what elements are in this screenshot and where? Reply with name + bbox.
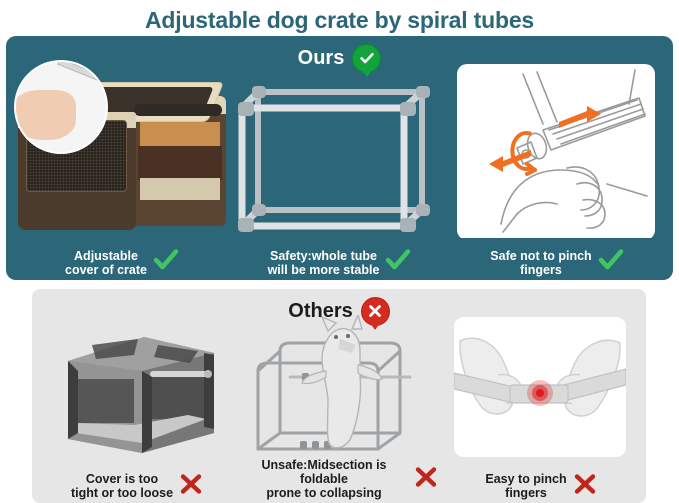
check-badge-icon — [352, 44, 381, 73]
pinch-hands-art — [442, 315, 640, 465]
others-caption-3: Easy to pinch fingers — [442, 472, 640, 500]
ours-header-label: Ours — [298, 47, 345, 70]
caption-line-2: prone to collapsing — [266, 486, 381, 500]
caption-line-2: fingers — [520, 263, 562, 277]
caption-line-1: Easy to pinch — [485, 472, 566, 486]
crate-photo-art — [14, 60, 230, 238]
wireframe-art — [232, 60, 448, 238]
white-card — [457, 64, 655, 238]
others-caption-1: Cover is too tight or too loose — [38, 472, 236, 500]
ours-cell-1: Adjustable cover of crate — [14, 56, 230, 280]
ours-caption-2-text: Safety:whole tube will be more stable — [268, 249, 380, 277]
check-icon — [598, 248, 624, 277]
caption-line-1: Safe not to pinch — [490, 249, 591, 263]
check-icon — [385, 248, 411, 277]
two-hands-pinching-tube-icon — [454, 317, 626, 457]
cross-icon — [414, 466, 438, 493]
caption-line-2: will be more stable — [268, 263, 380, 277]
gray-crate-art — [38, 315, 236, 465]
foldable-frame-with-dog-icon — [240, 315, 438, 465]
ours-cells: Adjustable cover of crate — [6, 56, 673, 280]
others-header-label: Others — [288, 300, 352, 323]
others-section-header: Others — [32, 295, 646, 327]
tube-frame-icon — [232, 60, 448, 238]
cross-badge-icon — [361, 297, 390, 326]
others-panel: Others — [32, 289, 646, 503]
ours-caption-2: Safety:whole tube will be more stable — [232, 248, 448, 277]
caption-line-2: cover of crate — [65, 263, 147, 277]
crate-side-floor — [140, 178, 220, 200]
grayscale-soft-crate-icon — [38, 315, 236, 465]
crate-side-brown-panel — [138, 146, 222, 180]
caption-line-1: Adjustable — [74, 249, 138, 263]
white-card — [454, 317, 626, 457]
caption-line-1: Unsafe:Midsection is foldable — [261, 458, 386, 486]
others-cell-2: Unsafe:Midsection is foldable prone to c… — [240, 307, 438, 503]
ours-caption-1-text: Adjustable cover of crate — [65, 249, 147, 277]
others-cell-3: Easy to pinch fingers — [442, 307, 640, 503]
caption-line-2: fingers — [505, 486, 547, 500]
ours-caption-3: Safe not to pinch fingers — [449, 248, 665, 277]
cross-icon — [573, 473, 597, 500]
ours-caption-3-text: Safe not to pinch fingers — [490, 249, 591, 277]
gray-wireframe-dog-art — [240, 315, 438, 465]
safe-hand-art — [449, 60, 665, 238]
others-caption-2: Unsafe:Midsection is foldable prone to c… — [240, 458, 438, 500]
hand-tube-inset-icon — [14, 60, 108, 154]
ours-cell-3: Safe not to pinch fingers — [449, 56, 665, 280]
caption-line-1: Safety:whole tube — [270, 249, 377, 263]
cross-icon — [179, 473, 203, 500]
others-cell-1: Cover is too tight or too loose — [38, 307, 236, 503]
ours-caption-1: Adjustable cover of crate — [14, 248, 230, 277]
inset-hand — [14, 90, 76, 140]
ours-cell-2: Safety:whole tube will be more stable — [232, 56, 448, 280]
others-cells: Cover is too tight or too loose — [32, 307, 646, 503]
ours-section-header: Ours — [6, 42, 673, 74]
others-caption-2-text: Unsafe:Midsection is foldable prone to c… — [240, 458, 408, 500]
crate-side-tan-panel — [140, 122, 220, 148]
crate-handle — [134, 104, 222, 116]
others-caption-1-text: Cover is too tight or too loose — [71, 472, 173, 500]
others-caption-3-text: Easy to pinch fingers — [485, 472, 566, 500]
color-crate-photo-icon — [14, 60, 230, 238]
ours-panel: Ours — [6, 36, 673, 280]
caption-line-1: Cover is too — [86, 472, 158, 486]
check-icon — [153, 248, 179, 277]
hand-holding-spiral-tube-icon — [457, 64, 655, 238]
caption-line-2: tight or too loose — [71, 486, 173, 500]
page-title: Adjustable dog crate by spiral tubes — [0, 0, 679, 35]
